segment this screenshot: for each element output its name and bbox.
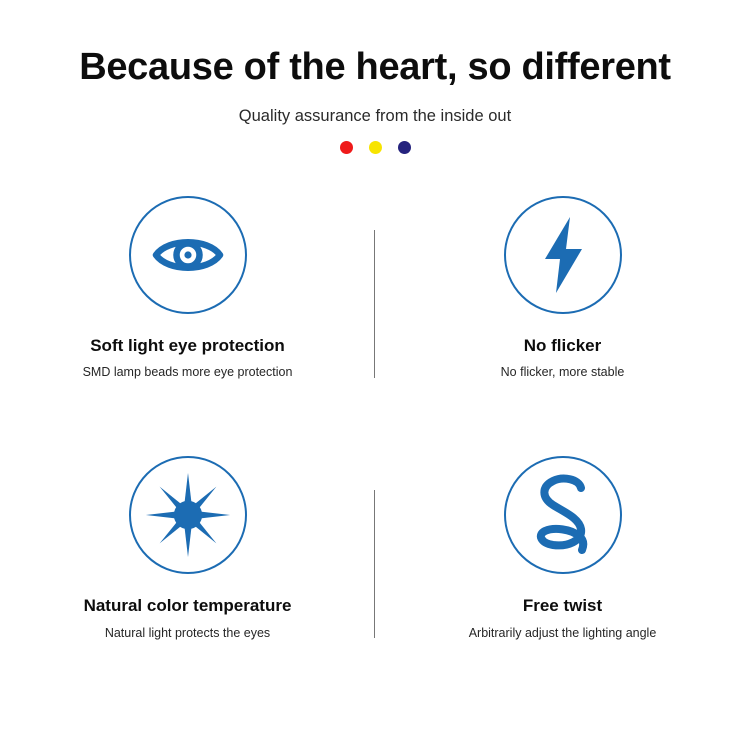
dot-yellow-icon [369,141,382,154]
color-dots [0,126,750,154]
feature-description: Natural light protects the eyes [105,617,270,641]
page-header: Because of the heart, so different Quali… [0,0,750,154]
feature-row-2: Natural color temperature Natural light … [0,456,750,640]
feature-title: Free twist [523,574,602,616]
feature-title: Natural color temperature [84,574,292,616]
s-twist-icon [531,473,595,557]
feature-description: No flicker, more stable [501,356,625,380]
feature-grid: Soft light eye protection SMD lamp beads… [0,196,750,641]
s-twist-icon-circle [504,456,622,574]
page-title: Because of the heart, so different [0,46,750,90]
lightning-bolt-icon-circle [504,196,622,314]
row-divider [374,230,375,378]
eye-icon [152,231,224,279]
feature-row-1: Soft light eye protection SMD lamp beads… [0,196,750,380]
feature-title: Soft light eye protection [90,314,285,356]
feature-description: Arbitrarily adjust the lighting angle [469,617,657,641]
dot-blue-icon [398,141,411,154]
page-subtitle: Quality assurance from the inside out [0,90,750,127]
sun-burst-icon [145,472,231,558]
feature-title: No flicker [524,314,601,356]
sun-burst-icon-circle [129,456,247,574]
eye-icon-circle [129,196,247,314]
feature-item-free-twist: Free twist Arbitrarily adjust the lighti… [375,456,750,640]
dot-red-icon [340,141,353,154]
row-divider [374,490,375,638]
feature-item-natural-color-temperature: Natural color temperature Natural light … [0,456,375,640]
feature-description: SMD lamp beads more eye protection [83,356,293,380]
lightning-bolt-icon [537,215,589,295]
feature-item-no-flicker: No flicker No flicker, more stable [375,196,750,380]
feature-item-soft-light-eye-protection: Soft light eye protection SMD lamp beads… [0,196,375,380]
